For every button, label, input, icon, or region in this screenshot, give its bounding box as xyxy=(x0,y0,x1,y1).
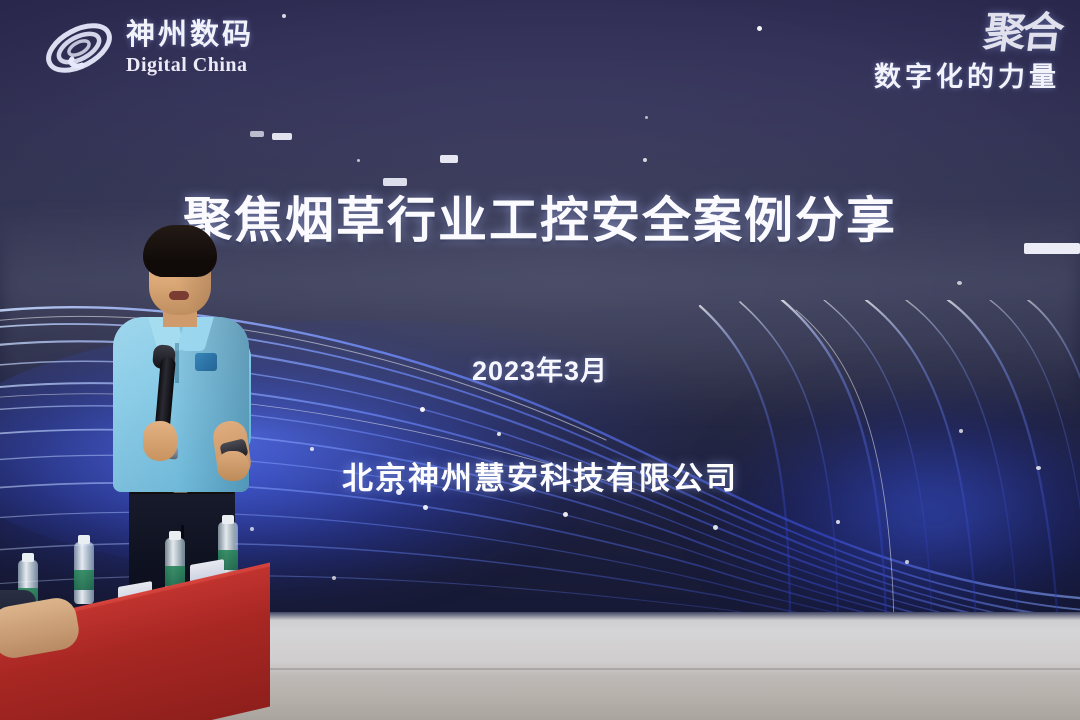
juhe-calligraphy-logo-icon: 聚合 xyxy=(872,14,1063,53)
digital-china-logo: 神州数码 Digital China xyxy=(42,16,254,80)
bottle-cap xyxy=(22,553,34,562)
bottle-cap xyxy=(169,531,181,540)
shirt-chest-logo-icon xyxy=(195,353,217,371)
speaker-hair xyxy=(143,225,217,277)
conference-photo: 神州数码 Digital China 聚合 数字化的力量 聚焦烟草行业工控安全案… xyxy=(0,0,1080,720)
mouth xyxy=(169,291,189,300)
shirt-placket xyxy=(175,343,179,383)
bottle-label xyxy=(74,570,94,590)
brand-name-en: Digital China xyxy=(126,55,254,75)
speaker-left-hand xyxy=(143,421,177,461)
bottle-cap xyxy=(222,515,234,524)
event-slogan: 数字化的力量 xyxy=(874,55,1060,94)
digital-china-swirl-logo-icon xyxy=(42,16,116,80)
brand-name-cn: 神州数码 xyxy=(126,21,254,50)
bottle-cap xyxy=(78,535,90,544)
event-logo: 聚合 数字化的力量 xyxy=(874,14,1060,94)
speaker-right-hand xyxy=(217,451,249,481)
